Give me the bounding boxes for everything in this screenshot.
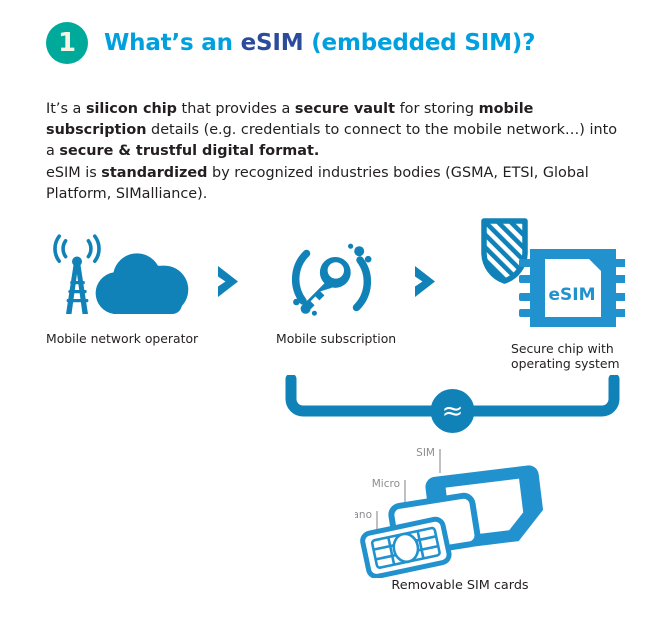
text-segment-2: that provides a — [177, 101, 295, 117]
text-segment-1: silicon chip — [86, 101, 177, 117]
secure-chip-icon-group: eSIM — [475, 215, 625, 337]
shield-icon — [484, 221, 525, 281]
label-nano: Nano — [355, 509, 372, 521]
operator-icon-group — [46, 232, 196, 327]
key-in-circle-icon — [276, 232, 398, 327]
node-mobile-network-operator: Mobile network operator — [46, 232, 198, 346]
caption-secure-chip-line-2: operating system — [511, 356, 625, 371]
node-secure-chip: eSIM Secure chip with operating system — [475, 215, 625, 371]
text-segment-7: secure & trustful digital format. — [59, 143, 319, 159]
text-segment-0: eSIM is — [46, 165, 101, 181]
page-title-highlight: eSIM — [241, 30, 304, 56]
paragraph-1: It’s a silicon chip that provides a secu… — [46, 99, 624, 162]
text-segment-3: secure vault — [295, 101, 395, 117]
removable-sim-cards-illustration: SIM Micro Nano — [355, 443, 570, 582]
flow-diagram: Mobile network operator — [0, 215, 660, 365]
text-segment-0: It’s a — [46, 101, 86, 117]
chevron-arrow-1-icon — [214, 264, 250, 304]
page-title-after: (embedded SIM)? — [303, 30, 535, 56]
wireless-link-symbol: ≈ — [442, 397, 464, 427]
wireless-link-bracket: ≈ — [285, 375, 620, 439]
node-mobile-subscription: Mobile subscription — [276, 232, 398, 346]
sim-card-nano — [361, 518, 450, 578]
step-number-badge: 1 — [46, 22, 88, 64]
cloud-icon — [96, 253, 189, 314]
cell-tower-icon — [55, 236, 99, 314]
chip-label: eSIM — [548, 285, 595, 305]
page-title-before: What’s an — [104, 30, 241, 56]
caption-mobile-subscription: Mobile subscription — [276, 331, 398, 346]
chevron-arrow-2-icon — [411, 264, 447, 304]
text-segment-1: standardized — [101, 165, 207, 181]
paragraph-2: eSIM is standardized by recognized indus… — [46, 163, 624, 205]
label-micro: Micro — [372, 478, 400, 490]
caption-removable-sim-cards: Removable SIM cards — [355, 578, 565, 593]
page-heading: 1 What’s an eSIM (embedded SIM)? — [46, 22, 535, 64]
label-sim: SIM — [416, 447, 435, 459]
caption-secure-chip-line-1: Secure chip with — [511, 341, 625, 356]
page-title: What’s an eSIM (embedded SIM)? — [104, 30, 535, 56]
caption-mobile-network-operator: Mobile network operator — [46, 331, 198, 346]
text-segment-4: for storing — [395, 101, 479, 117]
